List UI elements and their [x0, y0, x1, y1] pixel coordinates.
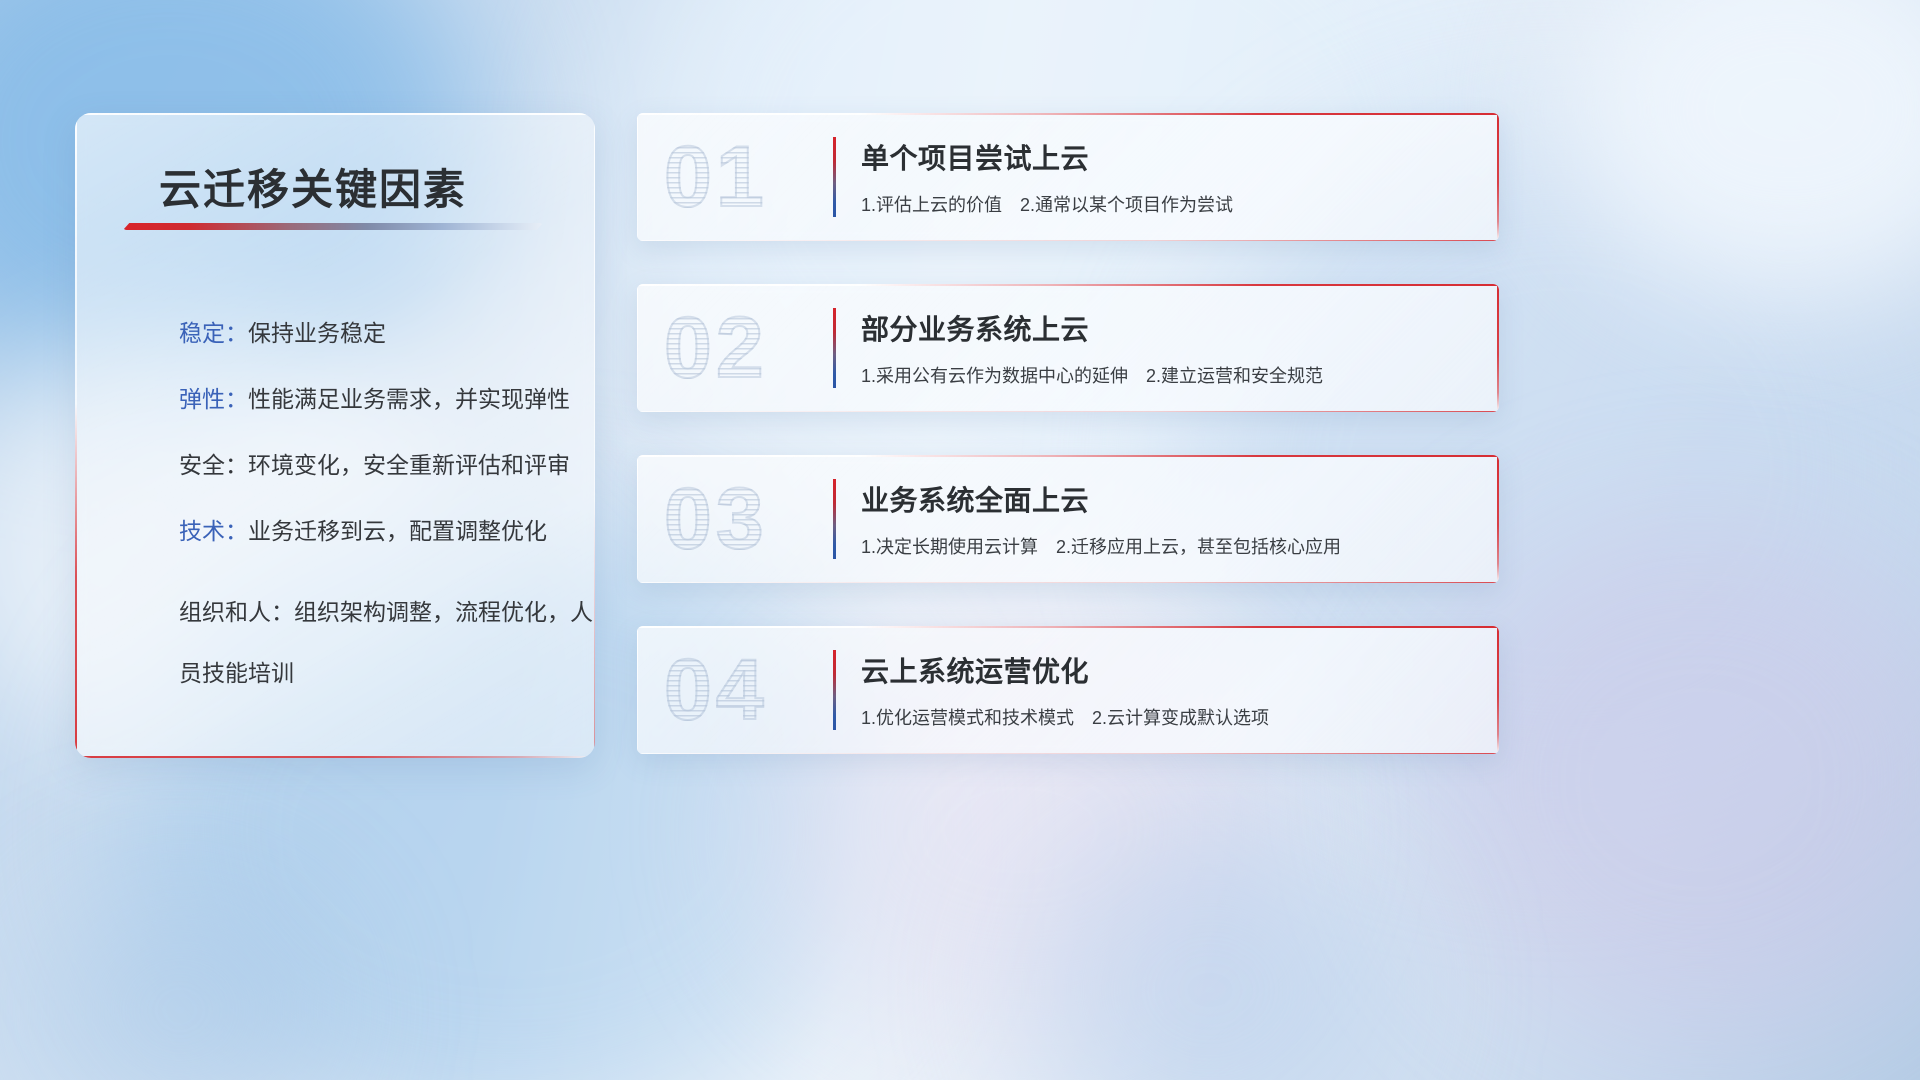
card-edge-left — [637, 626, 638, 754]
list-item: 稳定：保持业务稳定 — [179, 318, 595, 348]
list-item: 安全：环境变化，安全重新评估和评审 — [179, 450, 595, 480]
step-title: 业务系统全面上云 — [861, 479, 1089, 519]
step-description: 1.优化运营模式和技术模式2.云计算变成默认选项 — [861, 704, 1269, 730]
list-item-value: 环境变化，安全重新评估和评审 — [248, 452, 570, 478]
card-edge-bottom — [637, 240, 1499, 241]
step-description-part-1: 1.决定长期使用云计算 — [861, 537, 1038, 557]
step-description-part-1: 1.评估上云的价值 — [861, 195, 1002, 215]
card-edge-right — [1497, 455, 1499, 583]
step-description-part-2: 2.云计算变成默认选项 — [1092, 708, 1269, 728]
step-title: 部分业务系统上云 — [861, 308, 1089, 348]
step-description-part-2: 2.通常以某个项目作为尝试 — [1020, 195, 1233, 215]
card-edge-top — [637, 626, 1499, 628]
step-description-part-2: 2.迁移应用上云，甚至包括核心应用 — [1056, 537, 1341, 557]
key-factors-panel: 云迁移关键因素 稳定：保持业务稳定 弹性：性能满足业务需求，并实现弹性 安全：环… — [75, 113, 595, 758]
step-description-part-1: 1.采用公有云作为数据中心的延伸 — [861, 366, 1128, 386]
step-description-part-2: 2.建立运营和安全规范 — [1146, 366, 1323, 386]
panel-edge-bottom — [75, 756, 595, 758]
step-card-04[interactable]: 04 云上系统运营优化 1.优化运营模式和技术模式2.云计算变成默认选项 — [637, 626, 1499, 754]
card-edge-top — [637, 284, 1499, 286]
step-description: 1.评估上云的价值2.通常以某个项目作为尝试 — [861, 191, 1233, 217]
step-title: 单个项目尝试上云 — [861, 137, 1089, 177]
list-item-label: 弹性： — [179, 386, 248, 412]
card-edge-right — [1497, 113, 1499, 241]
step-description: 1.决定长期使用云计算2.迁移应用上云，甚至包括核心应用 — [861, 533, 1341, 559]
list-item: 组织和人：组织架构调整，流程优化，人员技能培训 — [179, 582, 595, 704]
page-title: 云迁移关键因素 — [159, 156, 467, 217]
step-number: 03 — [664, 469, 814, 569]
list-item-value: 业务迁移到云，配置调整优化 — [248, 518, 547, 544]
step-card-03[interactable]: 03 业务系统全面上云 1.决定长期使用云计算2.迁移应用上云，甚至包括核心应用 — [637, 455, 1499, 583]
key-factors-list: 稳定：保持业务稳定 弹性：性能满足业务需求，并实现弹性 安全：环境变化，安全重新… — [179, 318, 595, 740]
card-edge-bottom — [637, 753, 1499, 754]
list-item-label: 技术： — [179, 518, 248, 544]
card-edge-left — [637, 284, 638, 412]
panel-edge-top — [75, 113, 595, 115]
card-edge-left — [637, 455, 638, 583]
step-title: 云上系统运营优化 — [861, 650, 1089, 690]
list-item-label: 组织和人： — [179, 599, 294, 625]
step-number: 04 — [664, 640, 814, 740]
step-accent-bar — [833, 137, 836, 217]
list-item-value: 保持业务稳定 — [248, 320, 386, 346]
step-card-01[interactable]: 01 单个项目尝试上云 1.评估上云的价值2.通常以某个项目作为尝试 — [637, 113, 1499, 241]
card-edge-right — [1497, 284, 1499, 412]
list-item: 技术：业务迁移到云，配置调整优化 — [179, 516, 595, 546]
card-edge-top — [637, 455, 1499, 457]
list-item: 弹性：性能满足业务需求，并实现弹性 — [179, 384, 595, 414]
title-underline-accent — [123, 223, 543, 230]
list-item-label: 稳定： — [179, 320, 248, 346]
step-description-part-1: 1.优化运营模式和技术模式 — [861, 708, 1074, 728]
card-edge-bottom — [637, 582, 1499, 583]
panel-edge-left — [75, 113, 77, 758]
card-edge-right — [1497, 626, 1499, 754]
card-edge-top — [637, 113, 1499, 115]
list-item-value: 性能满足业务需求，并实现弹性 — [248, 386, 570, 412]
step-card-02[interactable]: 02 部分业务系统上云 1.采用公有云作为数据中心的延伸2.建立运营和安全规范 — [637, 284, 1499, 412]
step-number: 01 — [664, 127, 814, 227]
step-accent-bar — [833, 650, 836, 730]
card-edge-left — [637, 113, 638, 241]
step-description: 1.采用公有云作为数据中心的延伸2.建立运营和安全规范 — [861, 362, 1323, 388]
list-item-label: 安全： — [179, 452, 248, 478]
card-edge-bottom — [637, 411, 1499, 412]
step-accent-bar — [833, 479, 836, 559]
step-number: 02 — [664, 298, 814, 398]
step-accent-bar — [833, 308, 836, 388]
